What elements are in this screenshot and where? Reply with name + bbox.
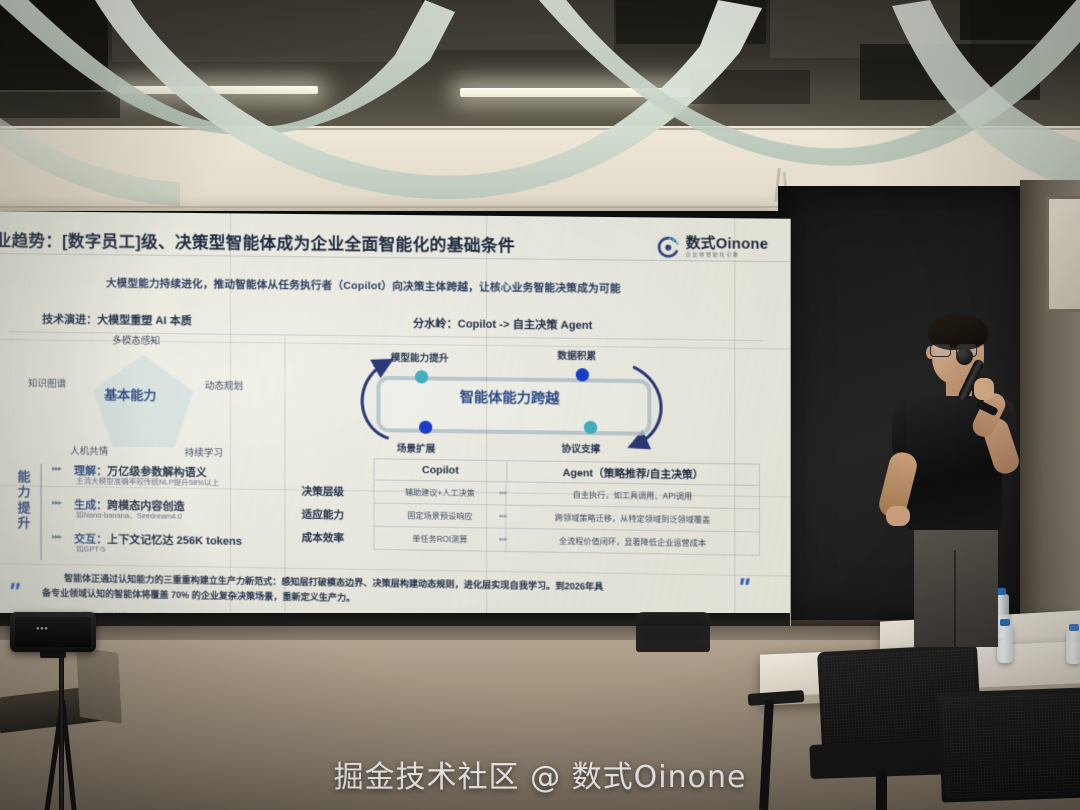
cycle-label-3: 场景扩展 (397, 440, 436, 455)
capability-value-2: 上下文记忆达 256K tokens (107, 534, 242, 548)
presentation-photo: 行业趋势：[数字员工]级、决策型智能体成为企业全面智能化的基础条件 (0, 0, 1080, 810)
page-title: 行业趋势：[数字员工]级、决策型智能体成为企业全面智能化的基础条件 (0, 227, 515, 257)
phone-brand-icon: ●●● (36, 626, 48, 632)
cycle-core-label: 智能体能力跨越 (376, 386, 643, 410)
capability-block: 能力提升 ▸▸▸ 理解：万亿级参数解构语义 主流大模型准确率较传统NLP提升58… (10, 459, 279, 568)
chevron-right-icon: ▸▸▸ (52, 532, 61, 541)
presenter (870, 300, 1050, 645)
right-section-heading: 分水岭：Copilot -> 自主决策 Agent (413, 315, 592, 333)
pentagon-core-label: 基本能力 (104, 384, 156, 404)
pentagon-label-3: 人机共情 (70, 443, 108, 458)
cycle-dot-2 (584, 421, 597, 434)
presenter-legs (914, 522, 998, 647)
cycle-label-2: 协议支撑 (561, 441, 600, 456)
capability-row: ▸▸▸ 交互：上下文记忆达 256K tokens 如GPT-5 (52, 530, 279, 533)
projection-screen-frame: 行业趋势：[数字员工]级、决策型智能体成为企业全面智能化的基础条件 (0, 211, 780, 631)
cycle-label-1: 数据积累 (557, 348, 596, 363)
chevron-right-icon: ▸▸▸ (52, 498, 61, 507)
logo-text: 数式Oinone 企业级智能化引擎 (686, 237, 769, 260)
cycle-dot-0 (415, 370, 428, 383)
cycle-diagram: 智能体能力跨越 模型能力提升 数据积累 协议支撑 场景扩展 (291, 341, 766, 466)
quote-mark-close-icon: " (737, 578, 747, 598)
logo-name: 数式Oinone (686, 237, 769, 253)
wall-frame (1046, 196, 1080, 312)
water-bottle (1066, 630, 1080, 664)
pentagon-label-4: 知识图谱 (28, 375, 66, 389)
table-cell-2-1: 全流程价值闭环，显著降低企业运营成本 (505, 529, 760, 556)
pentagon-label-1: 动态规划 (205, 378, 243, 393)
slide-subheadline: 大模型能力持续进化，推动智能体从任务执行者（Copilot）向决策主体跨越，让核… (50, 275, 678, 297)
capability-vertical-label: 能力提升 (14, 469, 34, 531)
capability-sub-1: 如Nano-banana、Seedream4.0 (76, 509, 182, 522)
table-row-label-2: 成本效率 (302, 530, 344, 546)
laptop-lid (76, 646, 122, 723)
cycle-dot-3 (419, 421, 432, 434)
recording-phone: ●●● (10, 612, 96, 652)
quote-line-2: 备专业领域认知的智能体将覆盖 70% 的企业复杂决策场景，重新定义生产力。 (42, 586, 355, 604)
table-arrow-icon: ▸▸▸ (499, 536, 507, 543)
oinone-logo-icon (657, 236, 681, 260)
cycle-dot-1 (576, 368, 589, 381)
capability-row: ▸▸▸ 理解：万亿级参数解构语义 主流大模型准确率较传统NLP提升58%以上 (52, 462, 279, 465)
glasses-icon (930, 344, 951, 357)
capability-row: ▸▸▸ 生成：跨模态内容创造 如Nano-banana、Seedream4.0 (52, 496, 279, 499)
cycle-label-0: 模型能力提升 (391, 350, 449, 365)
brand-logo: 数式Oinone 企业级智能化引擎 (657, 236, 768, 260)
table-row-label-1: 适应能力 (302, 507, 344, 523)
capability-sub-2: 如GPT-5 (76, 543, 105, 554)
quote-mark-open-icon: " (8, 582, 18, 602)
table-row-label-0: 决策层级 (302, 483, 344, 499)
pentagon-diagram: 多模态感知 动态规划 持续学习 人机共情 知识图谱 基本能力 (8, 337, 279, 459)
pentagon-label-2: 持续学习 (185, 445, 223, 460)
left-section-heading: 技术演进：大模型重塑 AI 本质 (42, 311, 192, 329)
table-grid: Copilot Agent（策略推荐/自主决策） 辅助建议+人工决策 自主执行，… (373, 458, 760, 556)
logo-tagline: 企业级智能化引擎 (686, 253, 769, 259)
watermark: 掘金技术社区 @ 数式Oinone (0, 752, 1080, 796)
slide-title-row: 行业趋势：[数字员工]级、决策型智能体成为企业全面智能化的基础条件 (0, 223, 791, 265)
chevron-right-icon: ▸▸▸ (52, 464, 61, 473)
table-arrow-icon: ▸▸▸ (499, 513, 507, 520)
ceiling (0, 0, 1080, 128)
projection-screen: 行业趋势：[数字员工]级、决策型智能体成为企业全面智能化的基础条件 (0, 211, 791, 628)
table-row: 单任务ROI测算 全流程价值闭环，显著降低企业运营成本 (373, 527, 760, 556)
chair (636, 612, 710, 652)
capability-divider (40, 464, 42, 560)
